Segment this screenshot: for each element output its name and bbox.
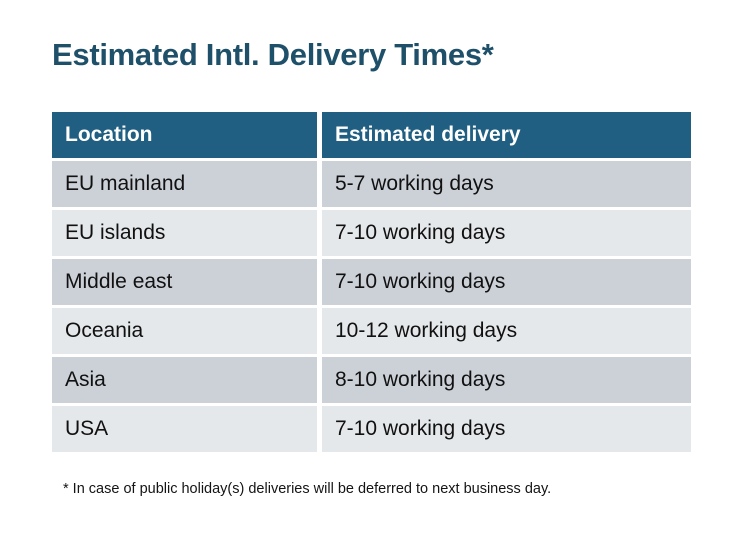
page-title: Estimated Intl. Delivery Times* [52,36,494,73]
cell-location: Oceania [52,308,317,354]
cell-delivery: 5-7 working days [322,161,691,207]
table-row: Asia 8-10 working days [52,357,691,403]
delivery-times-table: Location Estimated delivery EU mainland … [52,112,691,452]
column-header-estimated-delivery: Estimated delivery [322,112,691,158]
cell-location: Middle east [52,259,317,305]
column-header-location: Location [52,112,317,158]
table-header-row: Location Estimated delivery [52,112,691,158]
cell-location: USA [52,406,317,452]
table-row: USA 7-10 working days [52,406,691,452]
footnote-text: * In case of public holiday(s) deliverie… [63,481,551,497]
table-row: Middle east 7-10 working days [52,259,691,305]
page-root: Estimated Intl. Delivery Times* Location… [0,0,745,536]
cell-delivery: 8-10 working days [322,357,691,403]
cell-location: EU mainland [52,161,317,207]
table-row: EU islands 7-10 working days [52,210,691,256]
cell-delivery: 7-10 working days [322,259,691,305]
cell-location: Asia [52,357,317,403]
cell-location: EU islands [52,210,317,256]
cell-delivery: 7-10 working days [322,406,691,452]
table-row: Oceania 10-12 working days [52,308,691,354]
cell-delivery: 7-10 working days [322,210,691,256]
table-row: EU mainland 5-7 working days [52,161,691,207]
cell-delivery: 10-12 working days [322,308,691,354]
